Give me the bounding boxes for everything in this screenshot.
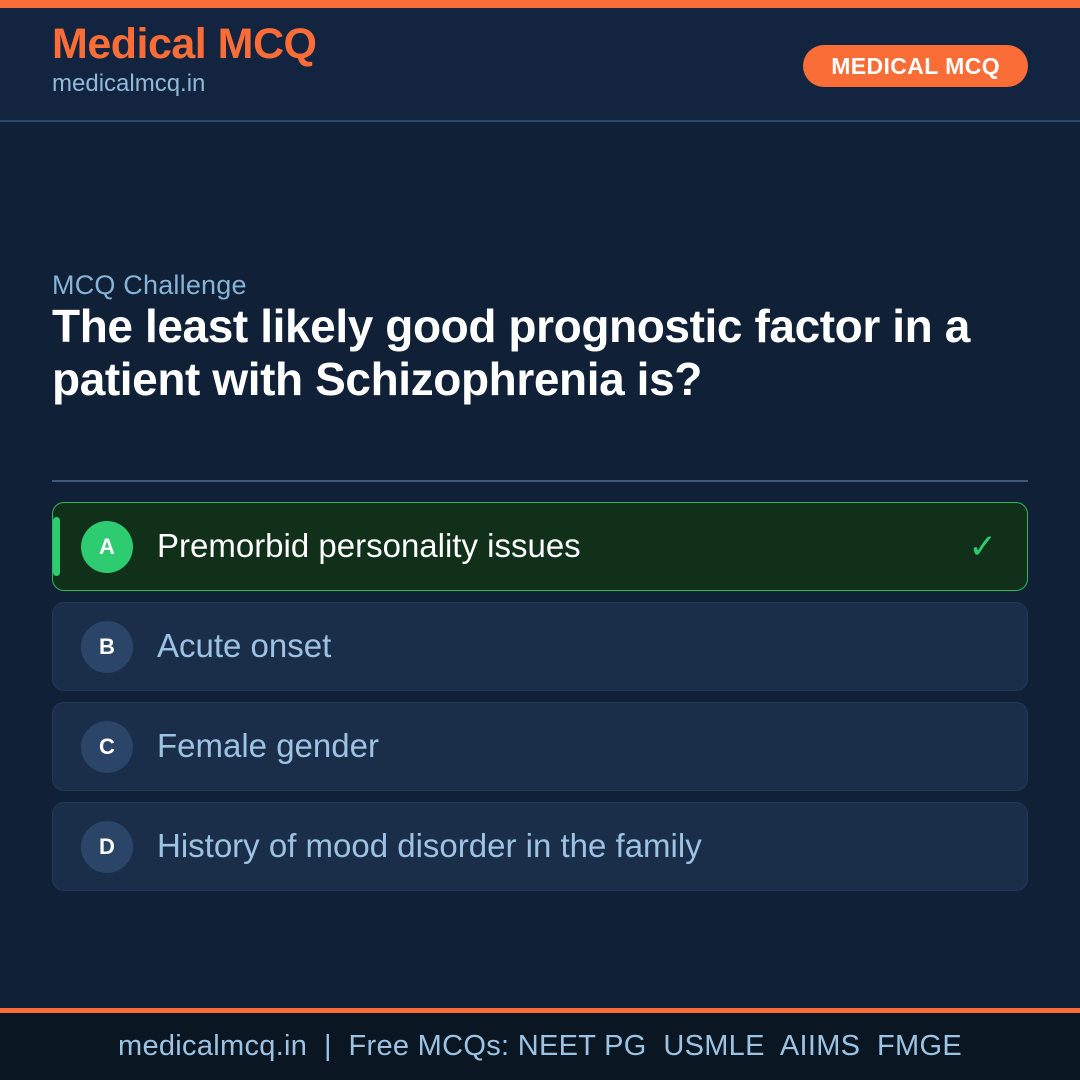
option-c-letter-badge: C — [81, 721, 133, 773]
section-eyebrow: MCQ Challenge — [52, 270, 247, 301]
top-accent-bar — [0, 0, 1080, 8]
option-b-letter-badge: B — [81, 621, 133, 673]
footer-text: medicalmcq.in | Free MCQs: NEET PG USMLE… — [118, 1030, 962, 1063]
brand-subtitle: medicalmcq.in — [52, 71, 317, 97]
brand-title: Medical MCQ — [52, 22, 317, 67]
header-badge-label: MEDICAL MCQ — [831, 53, 1000, 80]
brand-block: Medical MCQ medicalmcq.in — [52, 22, 317, 98]
main-content: MCQ Challenge The least likely good prog… — [0, 124, 1080, 1008]
option-a-label: Premorbid personality issues — [157, 528, 969, 564]
option-a-letter-badge: A — [81, 521, 133, 573]
check-icon: ✓ — [969, 530, 998, 564]
header-badge: MEDICAL MCQ — [803, 45, 1028, 87]
option-b[interactable]: B Acute onset — [52, 602, 1028, 691]
option-d-letter-badge: D — [81, 821, 133, 873]
correct-accent-bar — [53, 517, 60, 576]
option-c-label: Female gender — [157, 728, 997, 764]
option-d-label: History of mood disorder in the family — [157, 828, 997, 864]
options-list: A Premorbid personality issues ✓ B Acute… — [52, 502, 1028, 902]
option-c[interactable]: C Female gender — [52, 702, 1028, 791]
option-b-label: Acute onset — [157, 628, 997, 664]
option-a[interactable]: A Premorbid personality issues ✓ — [52, 502, 1028, 591]
question-text: The least likely good prognostic factor … — [52, 300, 1002, 406]
option-d[interactable]: D History of mood disorder in the family — [52, 802, 1028, 891]
page-header: Medical MCQ medicalmcq.in MEDICAL MCQ — [0, 8, 1080, 122]
question-divider — [52, 480, 1028, 482]
page-footer: medicalmcq.in | Free MCQs: NEET PG USMLE… — [0, 1008, 1080, 1080]
